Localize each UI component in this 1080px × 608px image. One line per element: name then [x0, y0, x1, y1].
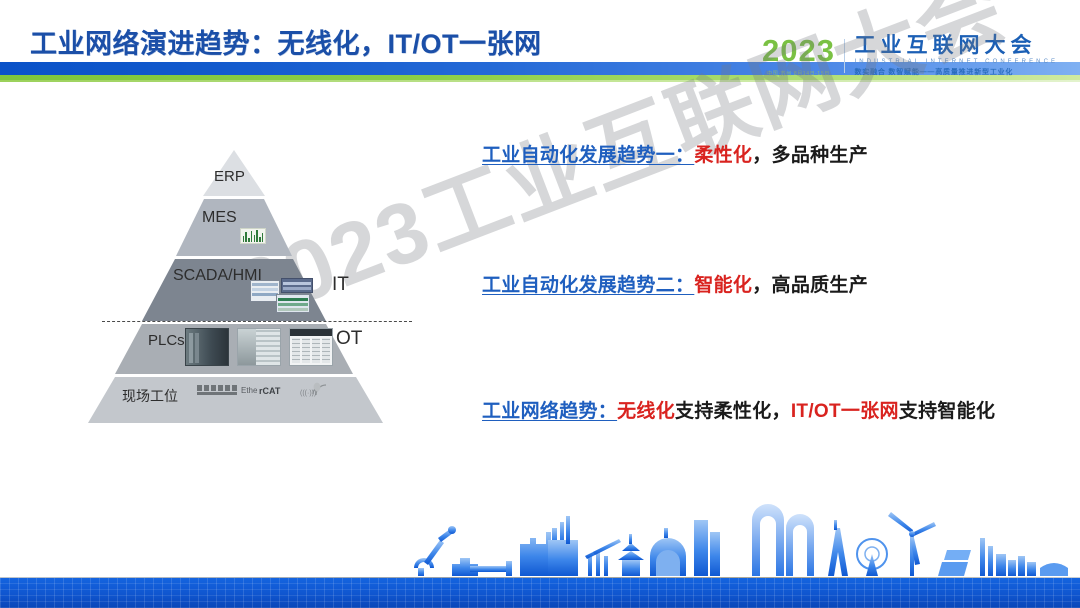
logo-slogan: 数实融合 数智赋能——高质量推进新型工业化 — [854, 67, 1058, 77]
pyramid-label-scada: SCADA/HMI — [173, 267, 262, 285]
logo-divider — [844, 39, 846, 73]
city-skyline-icon — [0, 498, 1080, 580]
statement-2-prefix: 工业自动化发展趋势二： — [482, 275, 694, 296]
pyramid-label-plcs: PLCs — [148, 332, 185, 349]
statement-line-1: 工业自动化发展趋势一：柔性化，多品种生产 — [482, 140, 868, 167]
plc-device-icons — [185, 328, 337, 368]
zone-label-it: IT — [332, 274, 349, 296]
sea-grid-band — [0, 578, 1080, 608]
statement-2-rest: ，高品质生产 — [752, 275, 868, 296]
fieldbus-logos: Ethe rCAT (((·))) — [195, 382, 355, 400]
automation-pyramid: ERP MES SCADA/HMI PLCs 现场工位 — [110, 150, 400, 415]
statement-line-2: 工业自动化发展趋势二：智能化，高品质生产 — [482, 270, 868, 297]
statement-3-prefix: 工业网络趋势： — [482, 401, 617, 422]
plc-device-3 — [289, 328, 333, 366]
bar-chart-icon — [240, 228, 266, 244]
svg-text:Ethe: Ethe — [241, 386, 258, 395]
svg-text:rCAT: rCAT — [259, 386, 281, 396]
statement-3-highlight-2: IT/OT一张网 — [791, 401, 899, 422]
statement-2-highlight: 智能化 — [694, 275, 752, 296]
page-title: 工业网络演进趋势：无线化，IT/OT一张网 — [30, 22, 542, 61]
logo-year-subtitle: 中国·苏州 8月14日-15日 — [767, 70, 830, 77]
logo-year-block: 2023 中国·苏州 8月14日-15日 — [762, 35, 835, 77]
zone-label-ot: OT — [336, 328, 362, 350]
statement-3-rest-2: 支持智能化 — [899, 401, 996, 422]
conference-logo: 2023 中国·苏州 8月14日-15日 工业互联网大会 INDUSTRIAL … — [762, 32, 1058, 80]
logo-text-block: 工业互联网大会 INDUSTRIAL INTERNET CONFERENCE 数… — [854, 35, 1058, 77]
statement-1-prefix: 工业自动化发展趋势一： — [482, 145, 694, 166]
statement-3-highlight: 无线化 — [617, 401, 675, 422]
logo-main-title: 工业互联网大会 — [854, 35, 1058, 57]
statement-line-3: 工业网络趋势：无线化支持柔性化，IT/OT一张网支持智能化 — [482, 396, 995, 423]
tier-shape-mes — [176, 199, 292, 256]
plc-device-1 — [185, 328, 229, 366]
logo-english-title: INDUSTRIAL INTERNET CONFERENCE — [854, 59, 1058, 65]
plc-device-2 — [237, 328, 281, 366]
pyramid-label-erp: ERP — [214, 168, 245, 185]
header-rule-green-thin — [0, 80, 1080, 82]
pyramid-tier-mes — [176, 199, 292, 256]
it-ot-divider — [102, 321, 412, 322]
hmi-monitor-icon — [250, 278, 322, 314]
fieldbus-logo-svg: Ethe rCAT (((·))) — [195, 382, 355, 400]
slide-canvas: 工业网络演进趋势：无线化，IT/OT一张网 2023 中国·苏州 8月14日-1… — [0, 0, 1080, 608]
svg-text:(((·))): (((·))) — [300, 390, 316, 397]
pyramid-label-mes: MES — [202, 209, 237, 227]
footer-decoration — [0, 498, 1080, 608]
statement-1-highlight: 柔性化 — [694, 145, 752, 166]
statement-1-rest: ，多品种生产 — [752, 145, 868, 166]
statement-3-rest: 支持柔性化， — [675, 401, 791, 422]
logo-year: 2023 — [762, 35, 835, 66]
pyramid-label-field: 现场工位 — [122, 386, 178, 406]
